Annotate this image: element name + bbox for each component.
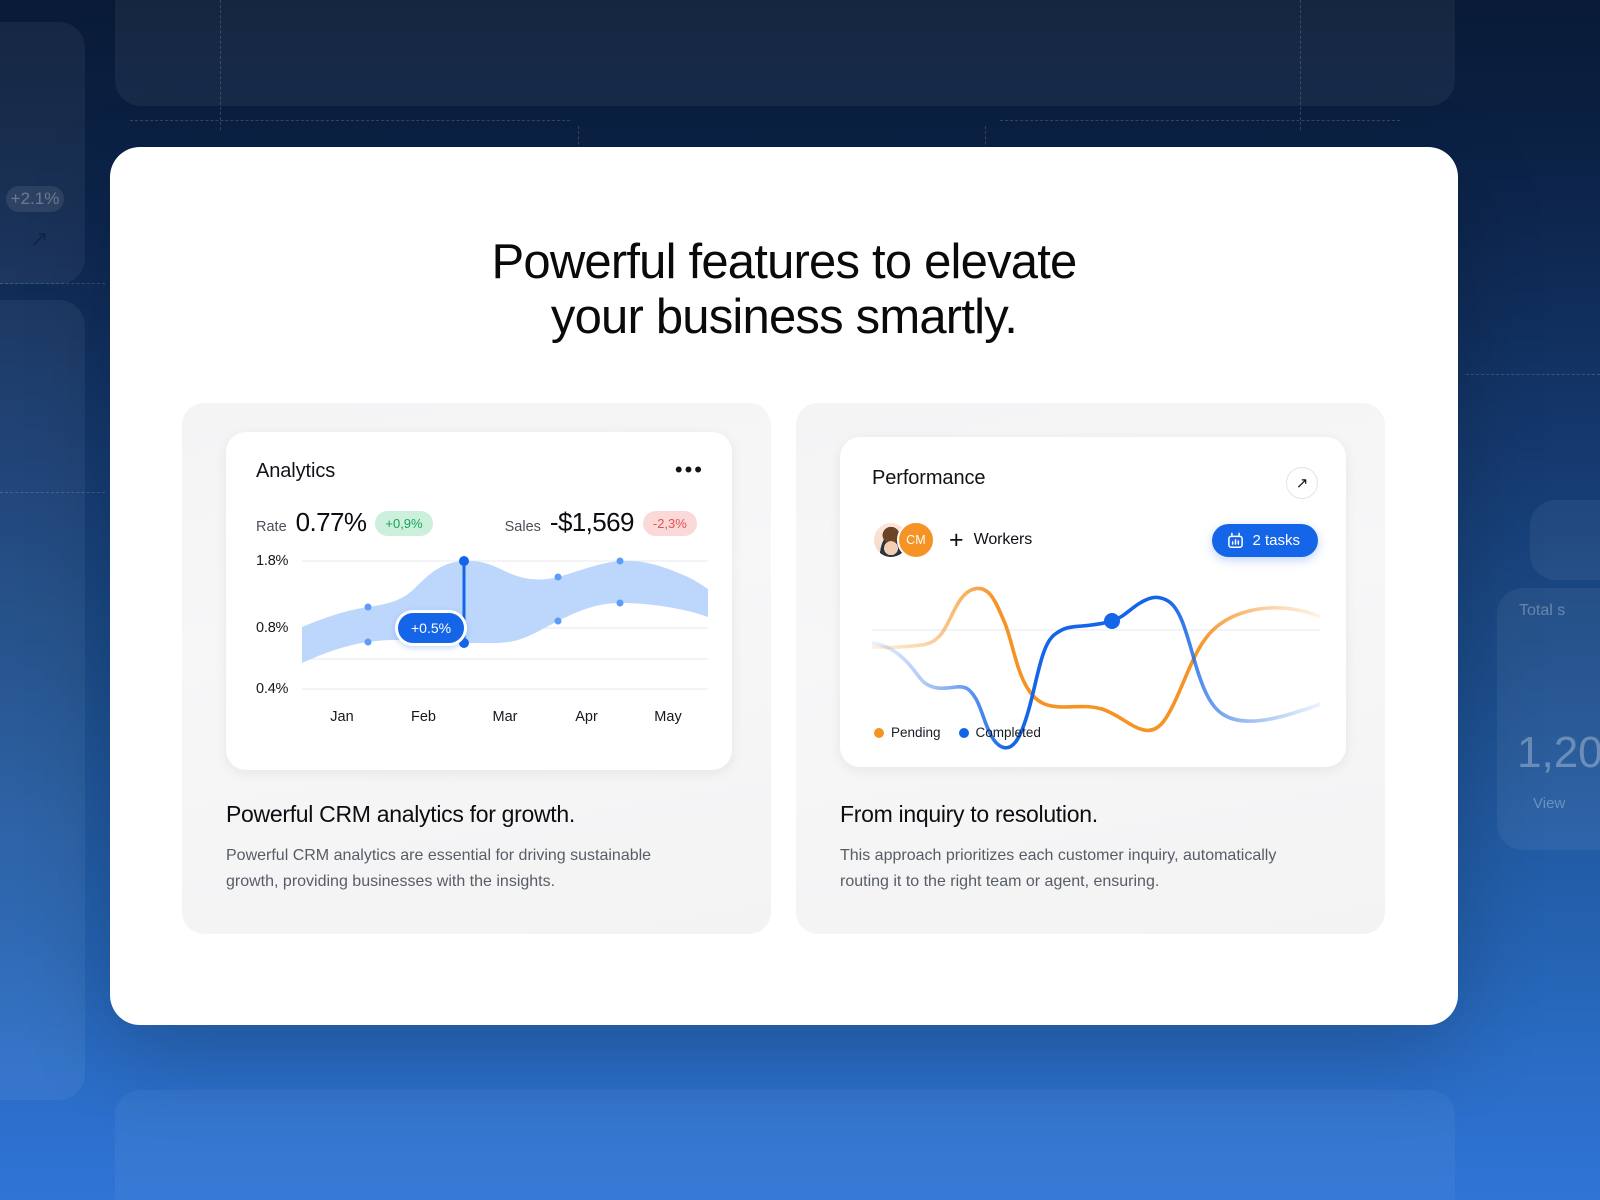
data-point <box>365 639 372 646</box>
series-pending-line <box>872 588 1320 730</box>
x-tick-apr: Apr <box>547 709 627 725</box>
kpi-rate: Rate 0.77% +0,9% <box>256 507 433 539</box>
workers-label: Workers <box>974 531 1033 549</box>
data-point <box>617 558 624 565</box>
background-card-right-link: View <box>1533 795 1565 812</box>
performance-card-copy: From inquiry to resolution. This approac… <box>840 801 1341 896</box>
performance-widget: Performance ↗ CM + Workers <box>840 437 1346 767</box>
legend-label-pending: Pending <box>891 725 941 740</box>
kpi-sales: Sales -$1,569 -2,3% <box>505 507 697 539</box>
add-worker-icon[interactable]: + <box>949 528 964 553</box>
background-card-right-value: 1,20 <box>1517 728 1600 778</box>
data-point <box>555 618 562 625</box>
performance-chart: Pending Completed <box>872 565 1320 750</box>
y-axis-tick-2: 0.4% <box>256 681 288 697</box>
analytics-widget: Analytics ••• Rate 0.77% +0,9% Sales -$1… <box>226 432 732 770</box>
kpi-sales-label: Sales <box>505 519 541 535</box>
kpi-sales-delta-badge: -2,3% <box>643 511 697 536</box>
legend-label-completed: Completed <box>976 725 1041 740</box>
background-arrow-icon: ↗ <box>30 228 48 250</box>
performance-card-body: This approach prioritizes each customer … <box>840 843 1310 896</box>
page-root: +2.1% ↗ Total s 1,20 View Powerful featu… <box>0 0 1600 1200</box>
analytics-card-heading: Powerful CRM analytics for growth. <box>226 801 727 828</box>
highlight-point <box>1104 613 1120 629</box>
kpi-rate-delta-badge: +0,9% <box>375 511 432 536</box>
chart-bar-icon <box>1227 532 1244 549</box>
performance-toolbar: CM + Workers <box>872 521 1318 559</box>
background-card-right-top <box>1530 500 1600 580</box>
performance-widget-header: Performance ↗ <box>872 467 1318 499</box>
analytics-kpi-row: Rate 0.77% +0,9% Sales -$1,569 -2,3% <box>256 507 706 539</box>
analytics-title: Analytics <box>256 460 335 483</box>
guide-line-horizontal <box>1466 374 1600 375</box>
kpi-sales-value: -$1,569 <box>550 507 634 538</box>
x-tick-jan: Jan <box>302 709 382 725</box>
feature-card-performance: Performance ↗ CM + Workers <box>796 403 1385 934</box>
chart-tooltip: +0.5% <box>395 610 467 646</box>
analytics-card-copy: Powerful CRM analytics for growth. Power… <box>226 801 727 896</box>
y-axis-tick-1: 0.8% <box>256 620 288 636</box>
x-tick-feb: Feb <box>384 709 464 725</box>
guide-line-horizontal <box>0 283 105 284</box>
background-card-bottom <box>115 1090 1455 1200</box>
background-percent-badge: +2.1% <box>6 186 64 212</box>
tasks-button[interactable]: 2 tasks <box>1212 524 1318 557</box>
y-axis-tick-0: 1.8% <box>256 553 288 569</box>
background-card-top <box>115 0 1455 106</box>
tasks-button-label: 2 tasks <box>1252 532 1300 549</box>
x-tick-may: May <box>628 709 708 725</box>
performance-card-heading: From inquiry to resolution. <box>840 801 1341 828</box>
headline-line-2: your business smartly. <box>551 290 1017 344</box>
feature-card-list: Analytics ••• Rate 0.77% +0,9% Sales -$1… <box>182 403 1385 934</box>
avatar-initials: CM <box>897 521 935 559</box>
page-title: Powerful features to elevate your busine… <box>110 235 1458 346</box>
guide-line-horizontal <box>1000 120 1400 121</box>
background-card-right <box>1497 588 1600 850</box>
more-options-icon[interactable]: ••• <box>673 460 706 480</box>
analytics-chart: 1.8% 0.8% 0.4% <box>256 555 708 707</box>
headline-line-1: Powerful features to elevate <box>491 235 1076 289</box>
feature-card-analytics: Analytics ••• Rate 0.77% +0,9% Sales -$1… <box>182 403 771 934</box>
expand-arrow-icon[interactable]: ↗ <box>1286 467 1318 499</box>
features-panel: Powerful features to elevate your busine… <box>110 147 1458 1025</box>
legend-dot-completed <box>959 728 969 738</box>
performance-title: Performance <box>872 467 985 490</box>
x-tick-mar: Mar <box>465 709 545 725</box>
kpi-rate-label: Rate <box>256 519 287 535</box>
guide-line-vertical <box>220 0 221 130</box>
background-card-left-lower <box>0 300 85 1100</box>
data-point <box>617 600 624 607</box>
guide-line-vertical <box>1300 0 1301 130</box>
kpi-rate-value: 0.77% <box>296 507 367 538</box>
analytics-widget-header: Analytics ••• <box>256 460 706 483</box>
chart-legend: Pending Completed <box>874 725 1041 740</box>
legend-item-pending: Pending <box>874 725 941 740</box>
workers-group: CM + Workers <box>872 521 1032 559</box>
guide-line-horizontal <box>130 120 570 121</box>
analytics-area-band <box>302 561 708 663</box>
legend-item-completed: Completed <box>959 725 1041 740</box>
background-card-right-title: Total s <box>1519 602 1565 620</box>
performance-chart-svg <box>872 565 1320 750</box>
avatar-stack: CM <box>872 521 935 559</box>
background-card-left <box>0 22 85 284</box>
x-axis-labels: Jan Feb Mar Apr May <box>302 709 708 725</box>
analytics-card-body: Powerful CRM analytics are essential for… <box>226 843 696 896</box>
legend-dot-pending <box>874 728 884 738</box>
data-point <box>365 604 372 611</box>
guide-line-horizontal <box>0 492 105 493</box>
analytics-chart-svg <box>302 555 708 707</box>
data-point <box>555 574 562 581</box>
